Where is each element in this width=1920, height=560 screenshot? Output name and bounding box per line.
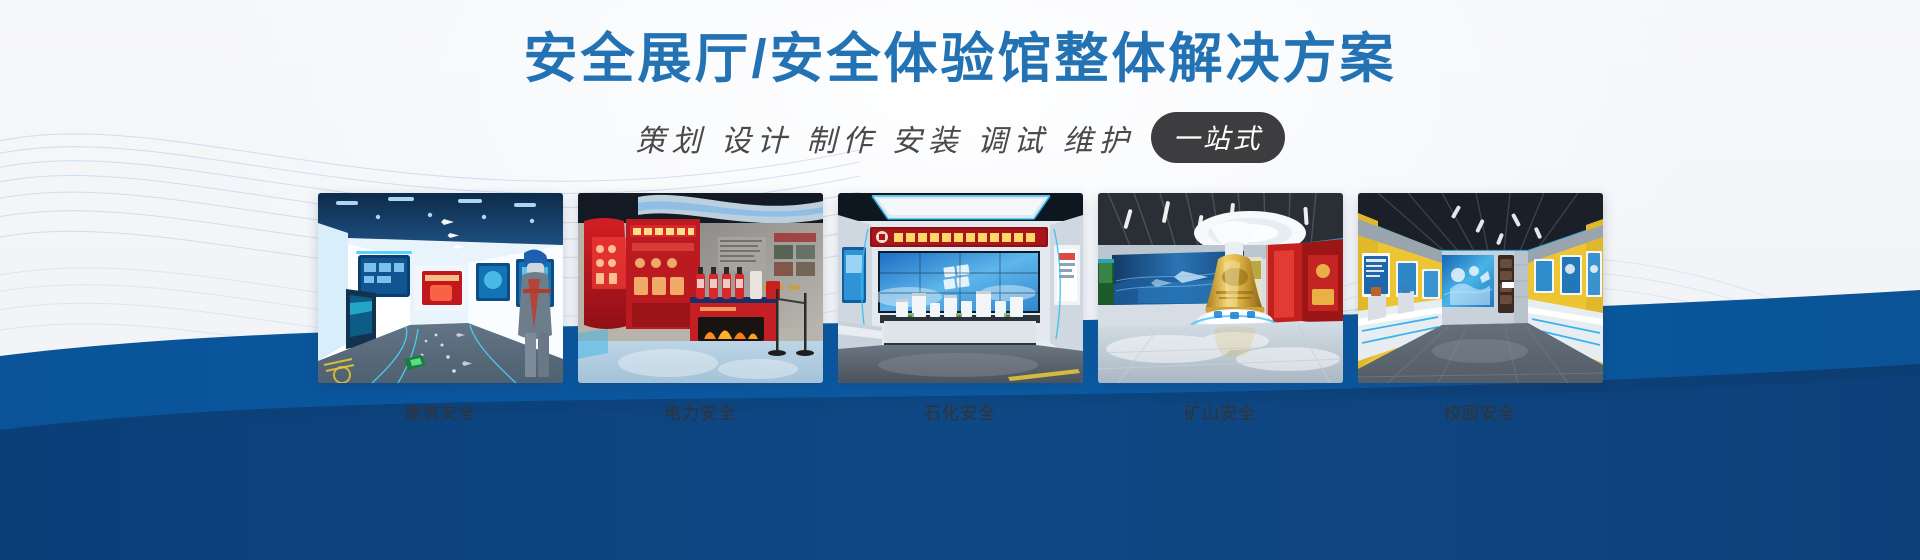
gallery-item[interactable]: 校园安全 xyxy=(1358,193,1603,424)
campus-safety-hall-photo[interactable] xyxy=(1358,193,1603,383)
page-title: 安全展厅/安全体验馆整体解决方案 xyxy=(523,28,1396,90)
construction-safety-hall-image xyxy=(318,193,563,383)
campus-safety-hall-image xyxy=(1358,193,1603,383)
gallery-item[interactable]: 矿山安全 xyxy=(1098,193,1343,424)
mine-safety-hall-image xyxy=(1098,193,1343,383)
exhibition-gallery: 建筑安全 xyxy=(318,193,1603,424)
safety-exhibition-banner: 安全展厅/安全体验馆整体解决方案 策划 设计 制作 安装 调试 维护 一站式 xyxy=(0,0,1920,560)
gallery-item[interactable]: 石化安全 xyxy=(838,193,1083,424)
gallery-item-caption: 建筑安全 xyxy=(404,399,476,424)
service-steps-label: 策划 设计 制作 安装 调试 维护 xyxy=(635,116,1135,160)
gallery-item-caption: 石化安全 xyxy=(924,399,996,424)
gallery-item-caption: 矿山安全 xyxy=(1184,399,1256,424)
petrochemical-safety-hall-photo[interactable] xyxy=(838,193,1083,383)
banner-content: 安全展厅/安全体验馆整体解决方案 策划 设计 制作 安装 调试 维护 一站式 xyxy=(0,0,1920,560)
gallery-item[interactable]: 电力安全 xyxy=(578,193,823,424)
gallery-item[interactable]: 建筑安全 xyxy=(318,193,563,424)
gallery-item-caption: 电力安全 xyxy=(664,399,736,424)
gallery-item-caption: 校园安全 xyxy=(1444,399,1516,424)
power-safety-hall-image xyxy=(578,193,823,383)
power-safety-hall-photo[interactable] xyxy=(578,193,823,383)
petrochemical-safety-hall-image xyxy=(838,193,1083,383)
mine-safety-hall-photo[interactable] xyxy=(1098,193,1343,383)
construction-safety-hall-photo[interactable] xyxy=(318,193,563,383)
service-steps-row: 策划 设计 制作 安装 调试 维护 一站式 xyxy=(635,112,1285,163)
one-stop-badge: 一站式 xyxy=(1151,112,1285,163)
